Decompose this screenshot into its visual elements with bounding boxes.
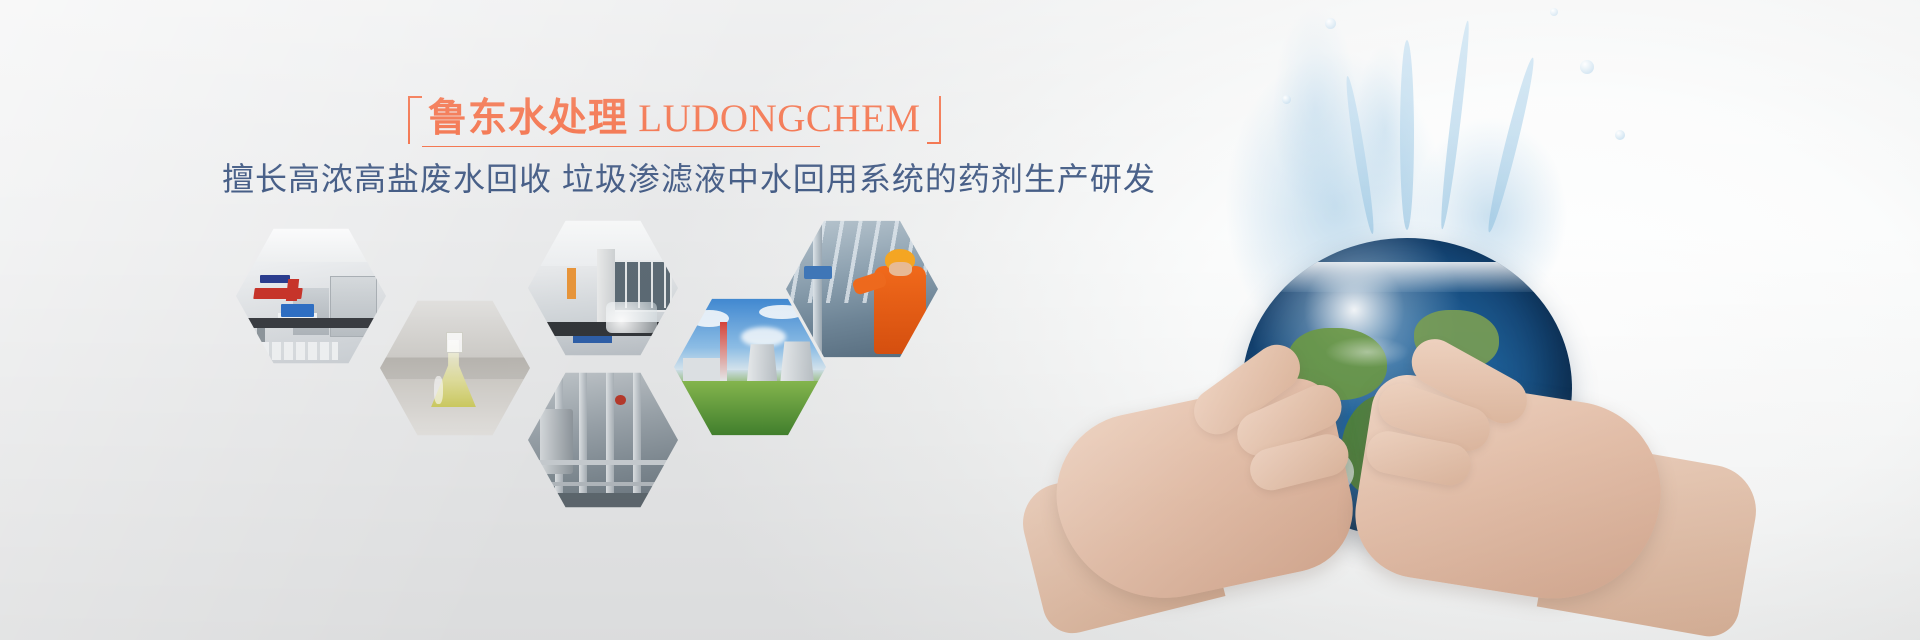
hexagon-gallery	[236, 218, 956, 518]
brand-title-en	[628, 97, 638, 140]
water-strand	[1400, 40, 1414, 230]
water-droplet	[1325, 18, 1336, 29]
brand-title-en-text: LUDONGCHEM	[638, 97, 920, 140]
brand-title-cn: 鲁东水处理	[428, 97, 628, 140]
water-globe-artwork	[1030, 0, 1920, 640]
water-droplet	[1550, 8, 1558, 16]
hero-banner: 鲁东水处理 LUDONGCHEM 擅长高浓高盐废水回收 垃圾渗滤液中水回用系统的…	[0, 0, 1920, 640]
banner-subtitle: 擅长高浓高盐废水回收 垃圾渗滤液中水回用系统的药剂生产研发	[222, 158, 1156, 200]
hex-tile-industrial-piping[interactable]	[528, 370, 678, 510]
hex-tile-laboratory-room[interactable]	[236, 226, 386, 366]
bracket-right-icon	[927, 96, 941, 144]
water-droplet	[1282, 95, 1291, 104]
brand-title: 鲁东水处理 LUDONGCHEM	[422, 96, 927, 142]
water-droplet	[1615, 130, 1625, 140]
hex-tile-erlenmeyer-flask-sample[interactable]	[380, 298, 530, 438]
hex-tile-laboratory-glassware[interactable]	[528, 218, 678, 358]
water-droplet	[1580, 60, 1594, 74]
headline-block: 鲁东水处理 LUDONGCHEM	[408, 96, 941, 147]
bracket-left-icon	[408, 96, 422, 144]
brand-title-row: 鲁东水处理 LUDONGCHEM	[408, 96, 941, 144]
title-underline	[422, 146, 820, 147]
